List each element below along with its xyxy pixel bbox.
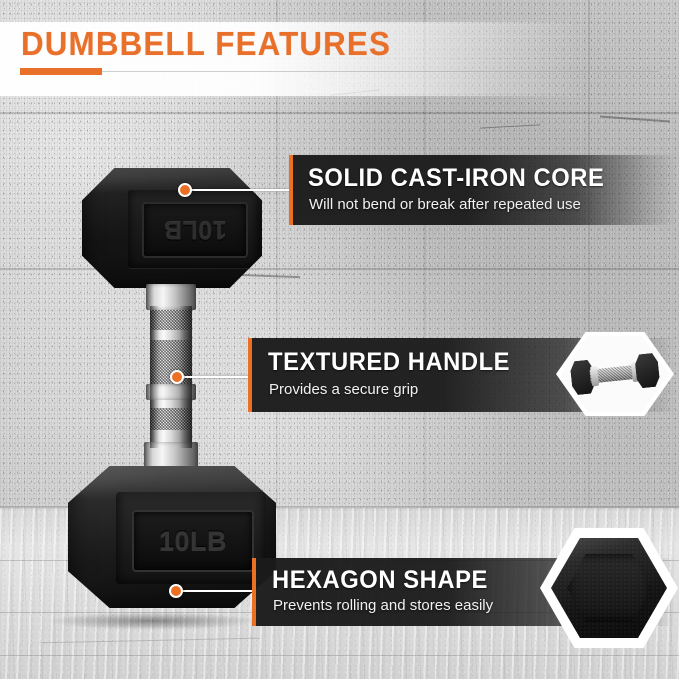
weight-plate-top: 10LB [142,202,248,258]
callout-marker-dot-3[interactable] [169,584,183,598]
title-underline [20,68,659,75]
title-underline-extension [102,71,659,72]
dumbbell-head-top: 10LB [82,168,262,288]
title-underline-accent [20,68,102,75]
callout-subtitle: Provides a secure grip [269,381,418,398]
callout-marker-dot-1[interactable] [178,183,192,197]
weight-label-bottom: 10LB [134,512,252,570]
callout-subtitle: Will not bend or break after repeated us… [309,196,581,213]
floor-plank-line [0,655,679,656]
feature-callout-solid-cast-iron-core[interactable]: SOLID CAST-IRON CORE Will not bend or br… [289,155,677,225]
callout-accent-bar [252,558,256,626]
page-title: DUMBBELL FEATURES [21,27,391,60]
product-dumbbell: 10LB 10LB [60,168,280,628]
mini-dumbbell-horizontal [569,352,660,395]
mini-dumbbell-head-right [634,352,660,388]
dumbbell-head-top-face: 10LB [128,190,258,268]
callout-title: HEXAGON SHAPE [272,566,488,595]
callout-title: SOLID CAST-IRON CORE [308,164,604,193]
inset-thumbnail-hexagon-shape[interactable] [540,528,678,648]
callout-accent-bar [248,338,252,412]
callout-marker-dot-2[interactable] [170,370,184,384]
callout-connector-line-3 [176,590,256,592]
dumbbell-head-bottom-face: 10LB [116,492,266,584]
weight-label-top: 10LB [144,204,246,256]
callout-accent-bar [289,155,293,225]
callout-connector-line-2 [177,376,253,378]
wall-seam-horizontal [0,112,679,114]
callout-subtitle: Prevents rolling and stores easily [273,597,493,614]
inset-thumbnail-textured-handle[interactable] [556,332,674,416]
callout-title: TEXTURED HANDLE [268,348,510,377]
callout-connector-line-1 [185,189,293,191]
weight-plate-bottom: 10LB [132,510,254,572]
infographic-canvas: DUMBBELL FEATURES 10LB 10 [0,0,679,679]
product-drop-shadow [46,612,260,630]
